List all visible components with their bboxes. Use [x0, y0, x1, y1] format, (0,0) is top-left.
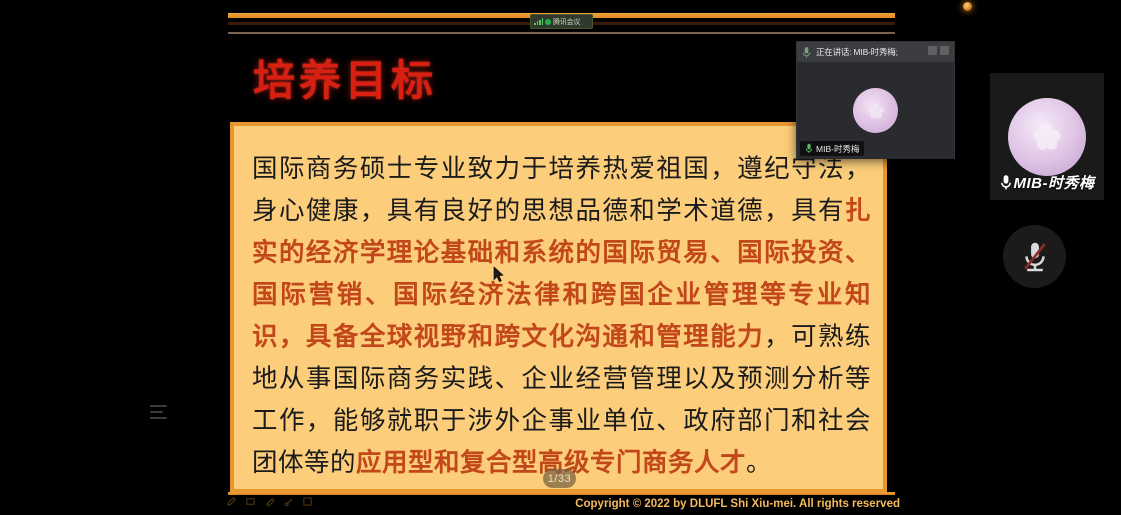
slide-page-indicator[interactable]: 1/33	[543, 469, 576, 488]
signal-strength-icon	[534, 18, 543, 25]
floating-window-titlebar[interactable]: 正在讲话: MIB-时秀梅;	[797, 42, 954, 62]
mouse-cursor	[493, 266, 505, 284]
floating-window-video-area[interactable]: MIB-时秀梅	[797, 62, 954, 159]
microphone-muted-icon	[1022, 240, 1048, 274]
tencent-meeting-status-pill[interactable]: 腾讯会议	[530, 14, 593, 29]
flower-icon	[866, 101, 886, 121]
pen-tool-icon[interactable]	[226, 496, 237, 507]
meeting-active-dot-icon	[545, 19, 551, 25]
rail-grey	[228, 32, 895, 34]
microphone-icon	[802, 46, 811, 59]
screen-root: 腾讯会议 培养目标 国际商务硕士专业致力于培养热爱祖国，遵纪守法，身心健康，具有…	[0, 0, 1121, 515]
microphone-icon	[805, 143, 813, 154]
slide-copyright: Copyright © 2022 by DLUFL Shi Xiu-mei. A…	[530, 498, 900, 510]
slide-body-run-0: 国际商务硕士专业致力于培养热爱祖国，遵纪守法，身心健康，具有良好的思想品德和学术…	[252, 154, 871, 226]
participant-tile-name-row: MIB-时秀梅	[990, 172, 1104, 193]
laser-pointer-icon[interactable]	[283, 496, 294, 507]
floating-window-speaking-label: 正在讲话: MIB-时秀梅;	[816, 46, 898, 58]
floating-window-minimize-button[interactable]	[928, 46, 937, 55]
hamburger-menu-icon[interactable]	[150, 405, 167, 419]
participant-tile-name: MIB-时秀梅	[1014, 172, 1095, 193]
eraser-tool-icon[interactable]	[264, 496, 275, 507]
floating-video-window[interactable]: 正在讲话: MIB-时秀梅;	[796, 41, 955, 159]
more-tools-icon[interactable]	[302, 496, 313, 507]
avatar	[853, 88, 898, 133]
floating-window-name-chip: MIB-时秀梅	[800, 141, 864, 156]
slide-content-card: 国际商务硕士专业致力于培养热爱祖国，遵纪守法，身心健康，具有良好的思想品德和学术…	[230, 122, 887, 493]
microphone-icon	[1000, 174, 1012, 191]
mute-toggle-button[interactable]	[1003, 225, 1066, 288]
highlighter-tool-icon[interactable]	[245, 496, 256, 507]
floating-window-controls[interactable]	[928, 46, 949, 55]
participant-tile[interactable]: MIB-时秀梅	[990, 73, 1104, 200]
flower-icon	[1030, 120, 1064, 154]
floating-window-participant-name: MIB-时秀梅	[816, 143, 859, 155]
ppt-annotation-toolbar[interactable]	[226, 496, 313, 507]
slide-body-text: 国际商务硕士专业致力于培养热爱祖国，遵纪守法，身心健康，具有良好的思想品德和学术…	[252, 148, 871, 484]
avatar	[1008, 98, 1086, 176]
tencent-meeting-label: 腾讯会议	[553, 17, 580, 27]
slide-body-run-4: 。	[746, 448, 772, 478]
slide-bottom-rail	[228, 492, 895, 495]
floating-window-expand-button[interactable]	[940, 46, 949, 55]
slide-title: 培养目标	[253, 47, 437, 108]
recording-indicator-dot-icon	[963, 2, 972, 11]
